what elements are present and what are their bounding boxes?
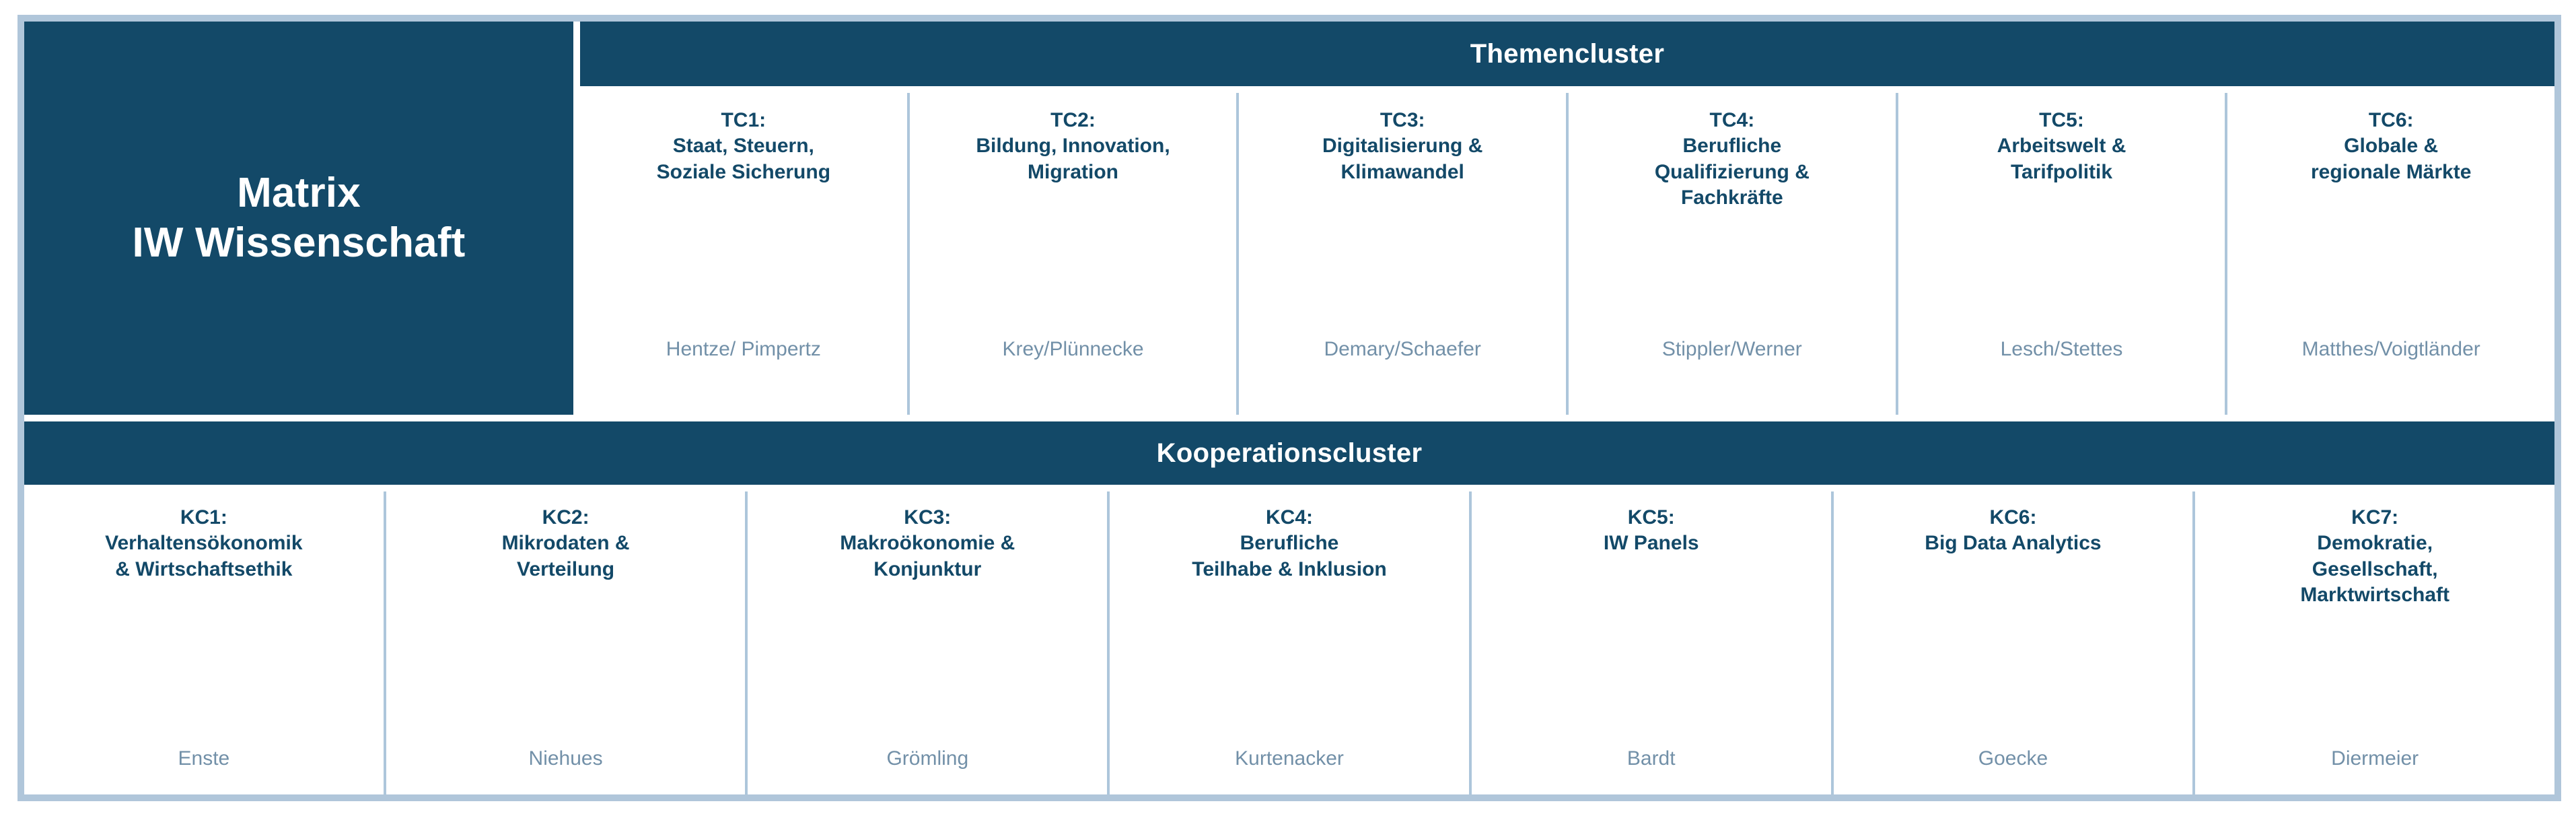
cell-author: Demary/Schaefer	[1324, 338, 1480, 361]
cell-author: Lesch/Stettes	[2001, 338, 2123, 361]
cell-title: TC3: Digitalisierung & Klimawandel	[1322, 108, 1482, 185]
cell-title: KC6: Big Data Analytics	[1925, 505, 2101, 557]
cell-title: TC5: Arbeitswelt & Tarifpolitik	[1997, 108, 2126, 185]
kooperationscluster-cell-kc2[interactable]: KC2: Mikrodaten & Verteilung Niehues	[384, 491, 746, 794]
cell-title: TC1: Staat, Steuern, Soziale Sicherung	[657, 108, 830, 185]
cell-title: KC3: Makroökonomie & Konjunktur	[840, 505, 1015, 582]
cell-author: Diermeier	[2331, 747, 2419, 770]
kooperationscluster-cell-kc3[interactable]: KC3: Makroökonomie & Konjunktur Grömling	[745, 491, 1107, 794]
cell-author: Hentze/ Pimpertz	[666, 338, 821, 361]
cell-author: Grömling	[886, 747, 968, 770]
cell-author: Matthes/Voigtländer	[2302, 338, 2480, 361]
cell-title: KC1: Verhaltensökonomik & Wirtschaftseth…	[105, 505, 302, 582]
themencluster-cell-tc4[interactable]: TC4: Berufliche Qualifizierung & Fachkrä…	[1566, 93, 1896, 415]
themencluster-header-band: Themencluster	[580, 22, 2554, 86]
cell-author: Enste	[178, 747, 230, 770]
themencluster-cell-tc5[interactable]: TC5: Arbeitswelt & Tarifpolitik Lesch/St…	[1896, 93, 2225, 415]
kooperationscluster-cell-kc4[interactable]: KC4: Berufliche Teilhabe & Inklusion Kur…	[1107, 491, 1469, 794]
matrix-diagram: Matrix IW Wissenschaft Themencluster TC1…	[17, 15, 2561, 801]
kooperationscluster-header-band: Kooperationscluster	[24, 421, 2554, 485]
cell-author: Kurtenacker	[1235, 747, 1344, 770]
cell-author: Bardt	[1627, 747, 1676, 770]
upper-region: Matrix IW Wissenschaft Themencluster TC1…	[24, 22, 2554, 415]
cell-title: TC4: Berufliche Qualifizierung & Fachkrä…	[1655, 108, 1810, 211]
themencluster-header-label: Themencluster	[1470, 39, 1664, 69]
themencluster-cell-tc6[interactable]: TC6: Globale & regionale Märkte Matthes/…	[2225, 93, 2554, 415]
kooperationscluster-row: KC1: Verhaltensökonomik & Wirtschaftseth…	[24, 491, 2554, 794]
themencluster-cell-tc3[interactable]: TC3: Digitalisierung & Klimawandel Demar…	[1236, 93, 1566, 415]
kooperationscluster-cell-kc7[interactable]: KC7: Demokratie, Gesellschaft, Marktwirt…	[2192, 491, 2554, 794]
kooperationscluster-cell-kc5[interactable]: KC5: IW Panels Bardt	[1469, 491, 1831, 794]
brand-title: Matrix IW Wissenschaft	[132, 168, 465, 269]
cell-author: Krey/Plünnecke	[1002, 338, 1143, 361]
cell-title: TC6: Globale & regionale Märkte	[2311, 108, 2471, 185]
kooperationscluster-cell-kc1[interactable]: KC1: Verhaltensökonomik & Wirtschaftseth…	[24, 491, 384, 794]
themencluster-cell-tc1[interactable]: TC1: Staat, Steuern, Soziale Sicherung H…	[580, 93, 907, 415]
themencluster-cell-tc2[interactable]: TC2: Bildung, Innovation, Migration Krey…	[907, 93, 1237, 415]
brand-block: Matrix IW Wissenschaft	[24, 22, 573, 415]
cell-title: KC7: Demokratie, Gesellschaft, Marktwirt…	[2300, 505, 2449, 609]
kooperationscluster-cell-kc6[interactable]: KC6: Big Data Analytics Goecke	[1831, 491, 2193, 794]
cell-author: Goecke	[1978, 747, 2048, 770]
cell-title: KC5: IW Panels	[1604, 505, 1699, 557]
cell-title: KC2: Mikrodaten & Verteilung	[502, 505, 630, 582]
kooperationscluster-header-label: Kooperationscluster	[1157, 438, 1423, 469]
themencluster-row: TC1: Staat, Steuern, Soziale Sicherung H…	[580, 93, 2554, 415]
cell-title: KC4: Berufliche Teilhabe & Inklusion	[1192, 505, 1386, 582]
themencluster-section: Themencluster TC1: Staat, Steuern, Sozia…	[580, 22, 2554, 415]
cell-author: Niehues	[529, 747, 603, 770]
cell-author: Stippler/Werner	[1662, 338, 1802, 361]
cell-title: TC2: Bildung, Innovation, Migration	[976, 108, 1170, 185]
